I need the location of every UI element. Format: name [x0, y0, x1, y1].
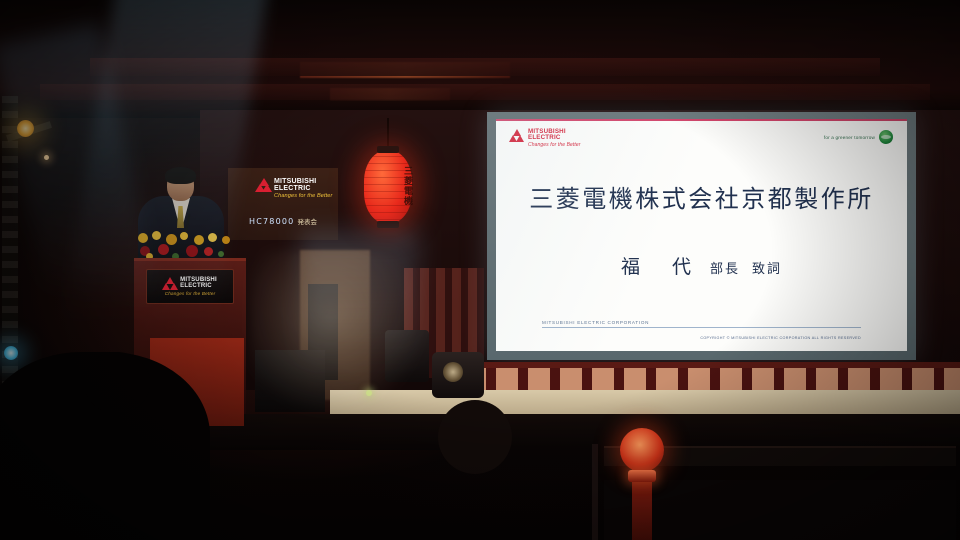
eave-beam-lower	[40, 84, 930, 100]
projection-screen-frame: MITSUBISHI ELECTRIC Changes for the Bett…	[487, 112, 916, 360]
mitsubishi-diamond-icon	[256, 178, 270, 191]
flower-blossom	[180, 232, 188, 240]
photo-scene: MITSUBISHI ELECTRIC Changes for the Bett…	[0, 0, 960, 540]
podium-logo-row: MITSUBISHI ELECTRIC	[163, 277, 217, 290]
audience-head	[84, 352, 150, 414]
slide-copyright: COPYRIGHT © MITSUBISHI ELECTRIC CORPORAT…	[700, 336, 861, 340]
eco-tagline: for a greener tomorrow	[824, 135, 875, 140]
mitsubishi-electric-logo: MITSUBISHI ELECTRIC Changes for the Bett…	[510, 129, 581, 148]
flower-blossom	[152, 231, 161, 240]
speaker-name: 福 代	[621, 256, 704, 278]
speaker-cabinet-lower	[255, 350, 325, 412]
red-paper-lantern: 三菱電機	[364, 150, 412, 224]
banner-wordmark: MITSUBISHI ELECTRIC Changes for the Bett…	[274, 178, 332, 199]
small-stage-lamp	[44, 155, 49, 160]
mitsubishi-diamond-icon	[163, 277, 177, 290]
banner-model-suffix: 発表会	[297, 218, 317, 226]
projection-screen: MITSUBISHI ELECTRIC Changes for the Bett…	[496, 119, 907, 351]
stage-balustrade	[432, 362, 960, 390]
flower-blossom	[194, 235, 204, 245]
banner-model-number: HC78000	[249, 217, 294, 226]
podium-tagline: Changes for the Better	[165, 291, 216, 296]
balustrade-slats	[432, 368, 960, 390]
greener-tomorrow-icon	[879, 130, 893, 144]
flower-blossom	[222, 236, 230, 244]
banner-logo: MITSUBISHI ELECTRIC Changes for the Bett…	[256, 178, 332, 199]
mitsubishi-diamond-icon	[510, 129, 524, 142]
flower-blossom	[158, 244, 169, 255]
equipment-indicator-led	[366, 390, 372, 396]
eco-badge-group: for a greener tomorrow	[824, 130, 893, 144]
red-glowing-lamp	[620, 428, 664, 472]
banner-tagline: Changes for the Better	[274, 194, 332, 200]
slide-content: MITSUBISHI ELECTRIC Changes for the Bett…	[496, 119, 907, 351]
eave-beam-upper	[90, 58, 880, 76]
logo-wordmark: MITSUBISHI ELECTRIC Changes for the Bett…	[528, 129, 581, 148]
blue-stage-lamp	[4, 346, 18, 360]
light-lens-glow	[443, 362, 463, 382]
flower-blossom	[218, 251, 224, 257]
slide-footer: MITSUBISHI ELECTRIC CORPORATION	[542, 320, 861, 328]
podium-logo-line-2: ELECTRIC	[180, 283, 217, 289]
podium-logo-plate: MITSUBISHI ELECTRIC Changes for the Bett…	[146, 269, 234, 304]
stage-floor	[330, 390, 960, 416]
banner-logo-line-1: MITSUBISHI	[274, 178, 332, 185]
logo-line-2: ELECTRIC	[528, 135, 581, 141]
speaker-role: 部長	[710, 262, 740, 277]
speaker-action: 致詞	[752, 262, 782, 277]
slide-subtitle: 福 代部長致詞	[496, 252, 907, 279]
podium-wordmark: MITSUBISHI ELECTRIC	[180, 277, 217, 289]
temple-eaves	[0, 0, 960, 118]
seat-rail	[592, 444, 598, 540]
amber-stage-lamp	[17, 120, 34, 137]
flower-blossom	[166, 234, 177, 245]
stage-light-fixture	[385, 330, 429, 382]
slide-title: 三菱電機株式会社京都製作所	[496, 179, 907, 214]
logo-tagline: Changes for the Better	[528, 143, 581, 148]
speaker-hair	[165, 167, 196, 184]
flower-blossom	[138, 233, 148, 243]
red-lamp-collar	[628, 470, 656, 482]
backdrop-banner: MITSUBISHI ELECTRIC Changes for the Bett…	[228, 168, 338, 240]
flower-blossom	[186, 245, 198, 257]
flower-blossom	[208, 233, 217, 242]
banner-logo-line-2: ELECTRIC	[274, 185, 332, 192]
banner-model-line: HC78000発表会	[228, 216, 338, 226]
lantern-text: 三菱電機	[364, 158, 412, 214]
seat-row-lower	[604, 480, 956, 540]
audience-head	[438, 400, 512, 474]
flower-blossom	[204, 247, 213, 256]
